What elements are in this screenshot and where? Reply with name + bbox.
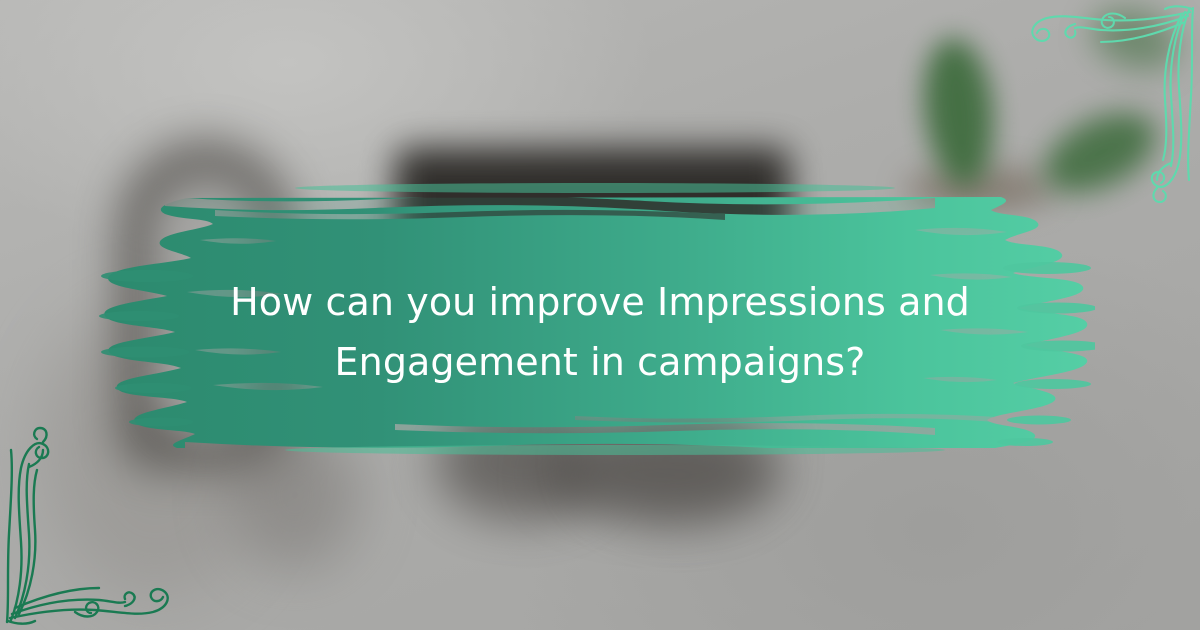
ornament-flourish-bottom-left-icon: [0, 425, 215, 630]
banner-canvas: How can you improve Impressions and Enga…: [0, 0, 1200, 630]
page-title: How can you improve Impressions and Enga…: [150, 272, 1050, 392]
ornament-flourish-top-right-icon: [985, 0, 1200, 205]
